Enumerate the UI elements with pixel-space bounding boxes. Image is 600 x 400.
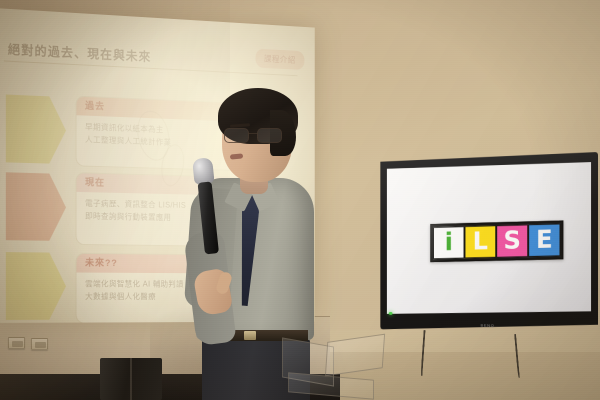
flat-screen-tv: i L S E BENQ — [380, 152, 598, 332]
slide-badge: 課程介紹 — [255, 49, 304, 70]
microphone-body — [198, 181, 219, 254]
speaker-trousers — [202, 338, 310, 400]
tv-brand-label: BENQ — [481, 323, 495, 328]
logo-tile-i: i — [433, 226, 464, 259]
logo-letter: S — [503, 228, 520, 253]
speaker-belt-buckle — [244, 331, 256, 340]
logo-letter: L — [473, 228, 488, 253]
ilse-logo: i L S E — [430, 220, 563, 262]
speaker-person — [178, 82, 330, 400]
eyeglasses-icon — [224, 128, 286, 144]
logo-letter: E — [536, 227, 553, 252]
microphone-head — [192, 157, 215, 185]
logo-letter: i — [445, 229, 453, 254]
tv-display-panel: i L S E — [387, 162, 591, 316]
logo-tile-e: E — [528, 223, 560, 257]
av-equipment-case — [100, 358, 162, 400]
power-led-icon — [389, 312, 393, 315]
logo-tile-l: L — [464, 225, 496, 258]
logo-tile-s: S — [496, 224, 528, 257]
floor — [330, 352, 600, 400]
presentation-room-scene: 絕對的過去、現在與未來 課程介紹 過去 早期資訊化以紙本為主 人工整理與人工統計… — [0, 0, 600, 400]
